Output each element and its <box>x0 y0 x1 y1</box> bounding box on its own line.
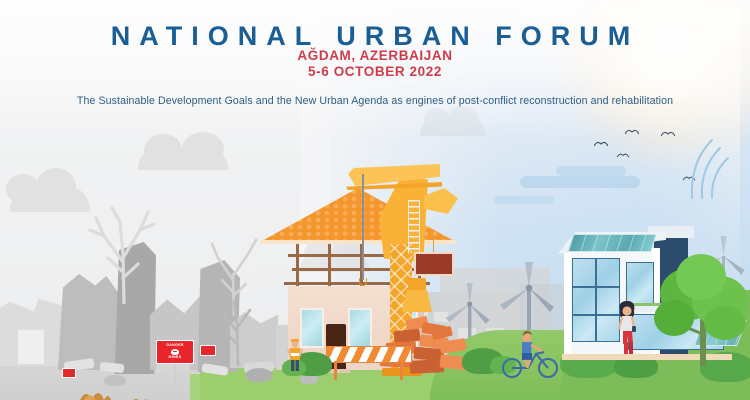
smoke-cloud <box>138 148 228 170</box>
crane-load-container <box>414 252 454 276</box>
conference-poster: DANGER MINES <box>0 0 750 400</box>
skull-icon <box>171 349 179 355</box>
tree-crown <box>704 306 746 340</box>
rubble-rock <box>246 368 272 382</box>
solar-panel-roof <box>567 234 657 252</box>
smoke-cloud <box>10 186 90 212</box>
construction-barrier <box>326 346 412 380</box>
crane-cable <box>362 174 364 280</box>
large-tree <box>648 248 750 366</box>
cyclist-person <box>500 330 562 378</box>
crane-counterweight <box>424 188 458 214</box>
window-mullion <box>595 259 597 341</box>
wisp-cloud <box>556 166 626 176</box>
bird-icon <box>617 152 629 159</box>
danger-sign-small <box>62 368 76 378</box>
dry-brush <box>130 390 152 400</box>
wisp-cloud <box>520 176 640 188</box>
barrier-leg <box>400 361 403 380</box>
danger-mines-sign: DANGER MINES <box>156 340 194 364</box>
danger-sign-small <box>200 345 216 356</box>
tree-crown <box>676 254 726 300</box>
brick <box>439 338 467 354</box>
crane-ladder <box>408 200 420 254</box>
crane-foot <box>402 290 432 312</box>
danger-sign-line1: DANGER <box>166 344 183 348</box>
wisp-cloud <box>494 196 554 204</box>
tree-crown <box>654 300 694 336</box>
ruin-window <box>18 330 44 364</box>
frame-post <box>328 240 331 286</box>
danger-sign-line2: MINES <box>169 356 182 360</box>
event-location: AĞDAM, AZERBAIJAN <box>0 48 750 63</box>
event-tagline: The Sustainable Development Goals and th… <box>0 95 750 107</box>
pedestrian-person <box>614 300 640 356</box>
frame-post <box>296 240 299 286</box>
crane-hook <box>359 278 367 286</box>
bird-icon <box>594 140 606 147</box>
dead-tree-icon <box>86 200 160 304</box>
building-column <box>564 248 571 356</box>
dry-brush <box>78 384 112 400</box>
building-window-large <box>572 258 620 342</box>
barrier-leg <box>334 361 337 380</box>
event-dates: 5-6 OCTOBER 2022 <box>0 64 750 79</box>
construction-worker <box>286 338 304 372</box>
